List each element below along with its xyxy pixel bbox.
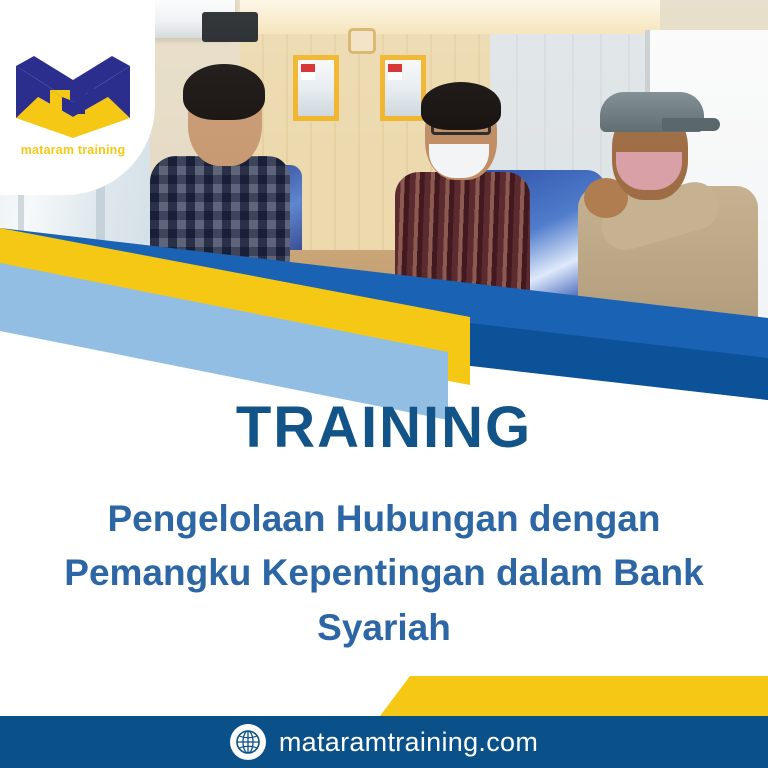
training-topic-line-1: Pengelolaan Hubungan dengan — [24, 492, 744, 546]
training-topic-line-3: Syariah — [24, 601, 744, 655]
training-topic-line-2: Pemangku Kepentingan dalam Bank — [24, 546, 744, 600]
page-title: TRAINING — [0, 394, 768, 461]
globe-icon — [230, 724, 266, 760]
logo-mark-icon — [12, 42, 134, 142]
training-poster: mataram training TRAINING Pengelolaan Hu… — [0, 0, 768, 768]
training-topic: Pengelolaan Hubungan dengan Pemangku Kep… — [24, 492, 744, 655]
website-url[interactable]: mataramtraining.com — [279, 727, 538, 758]
logo-wordmark: mataram training — [12, 143, 134, 157]
footer-bar: mataramtraining.com — [0, 716, 768, 768]
mataram-m-logo[interactable]: mataram training — [12, 42, 134, 177]
